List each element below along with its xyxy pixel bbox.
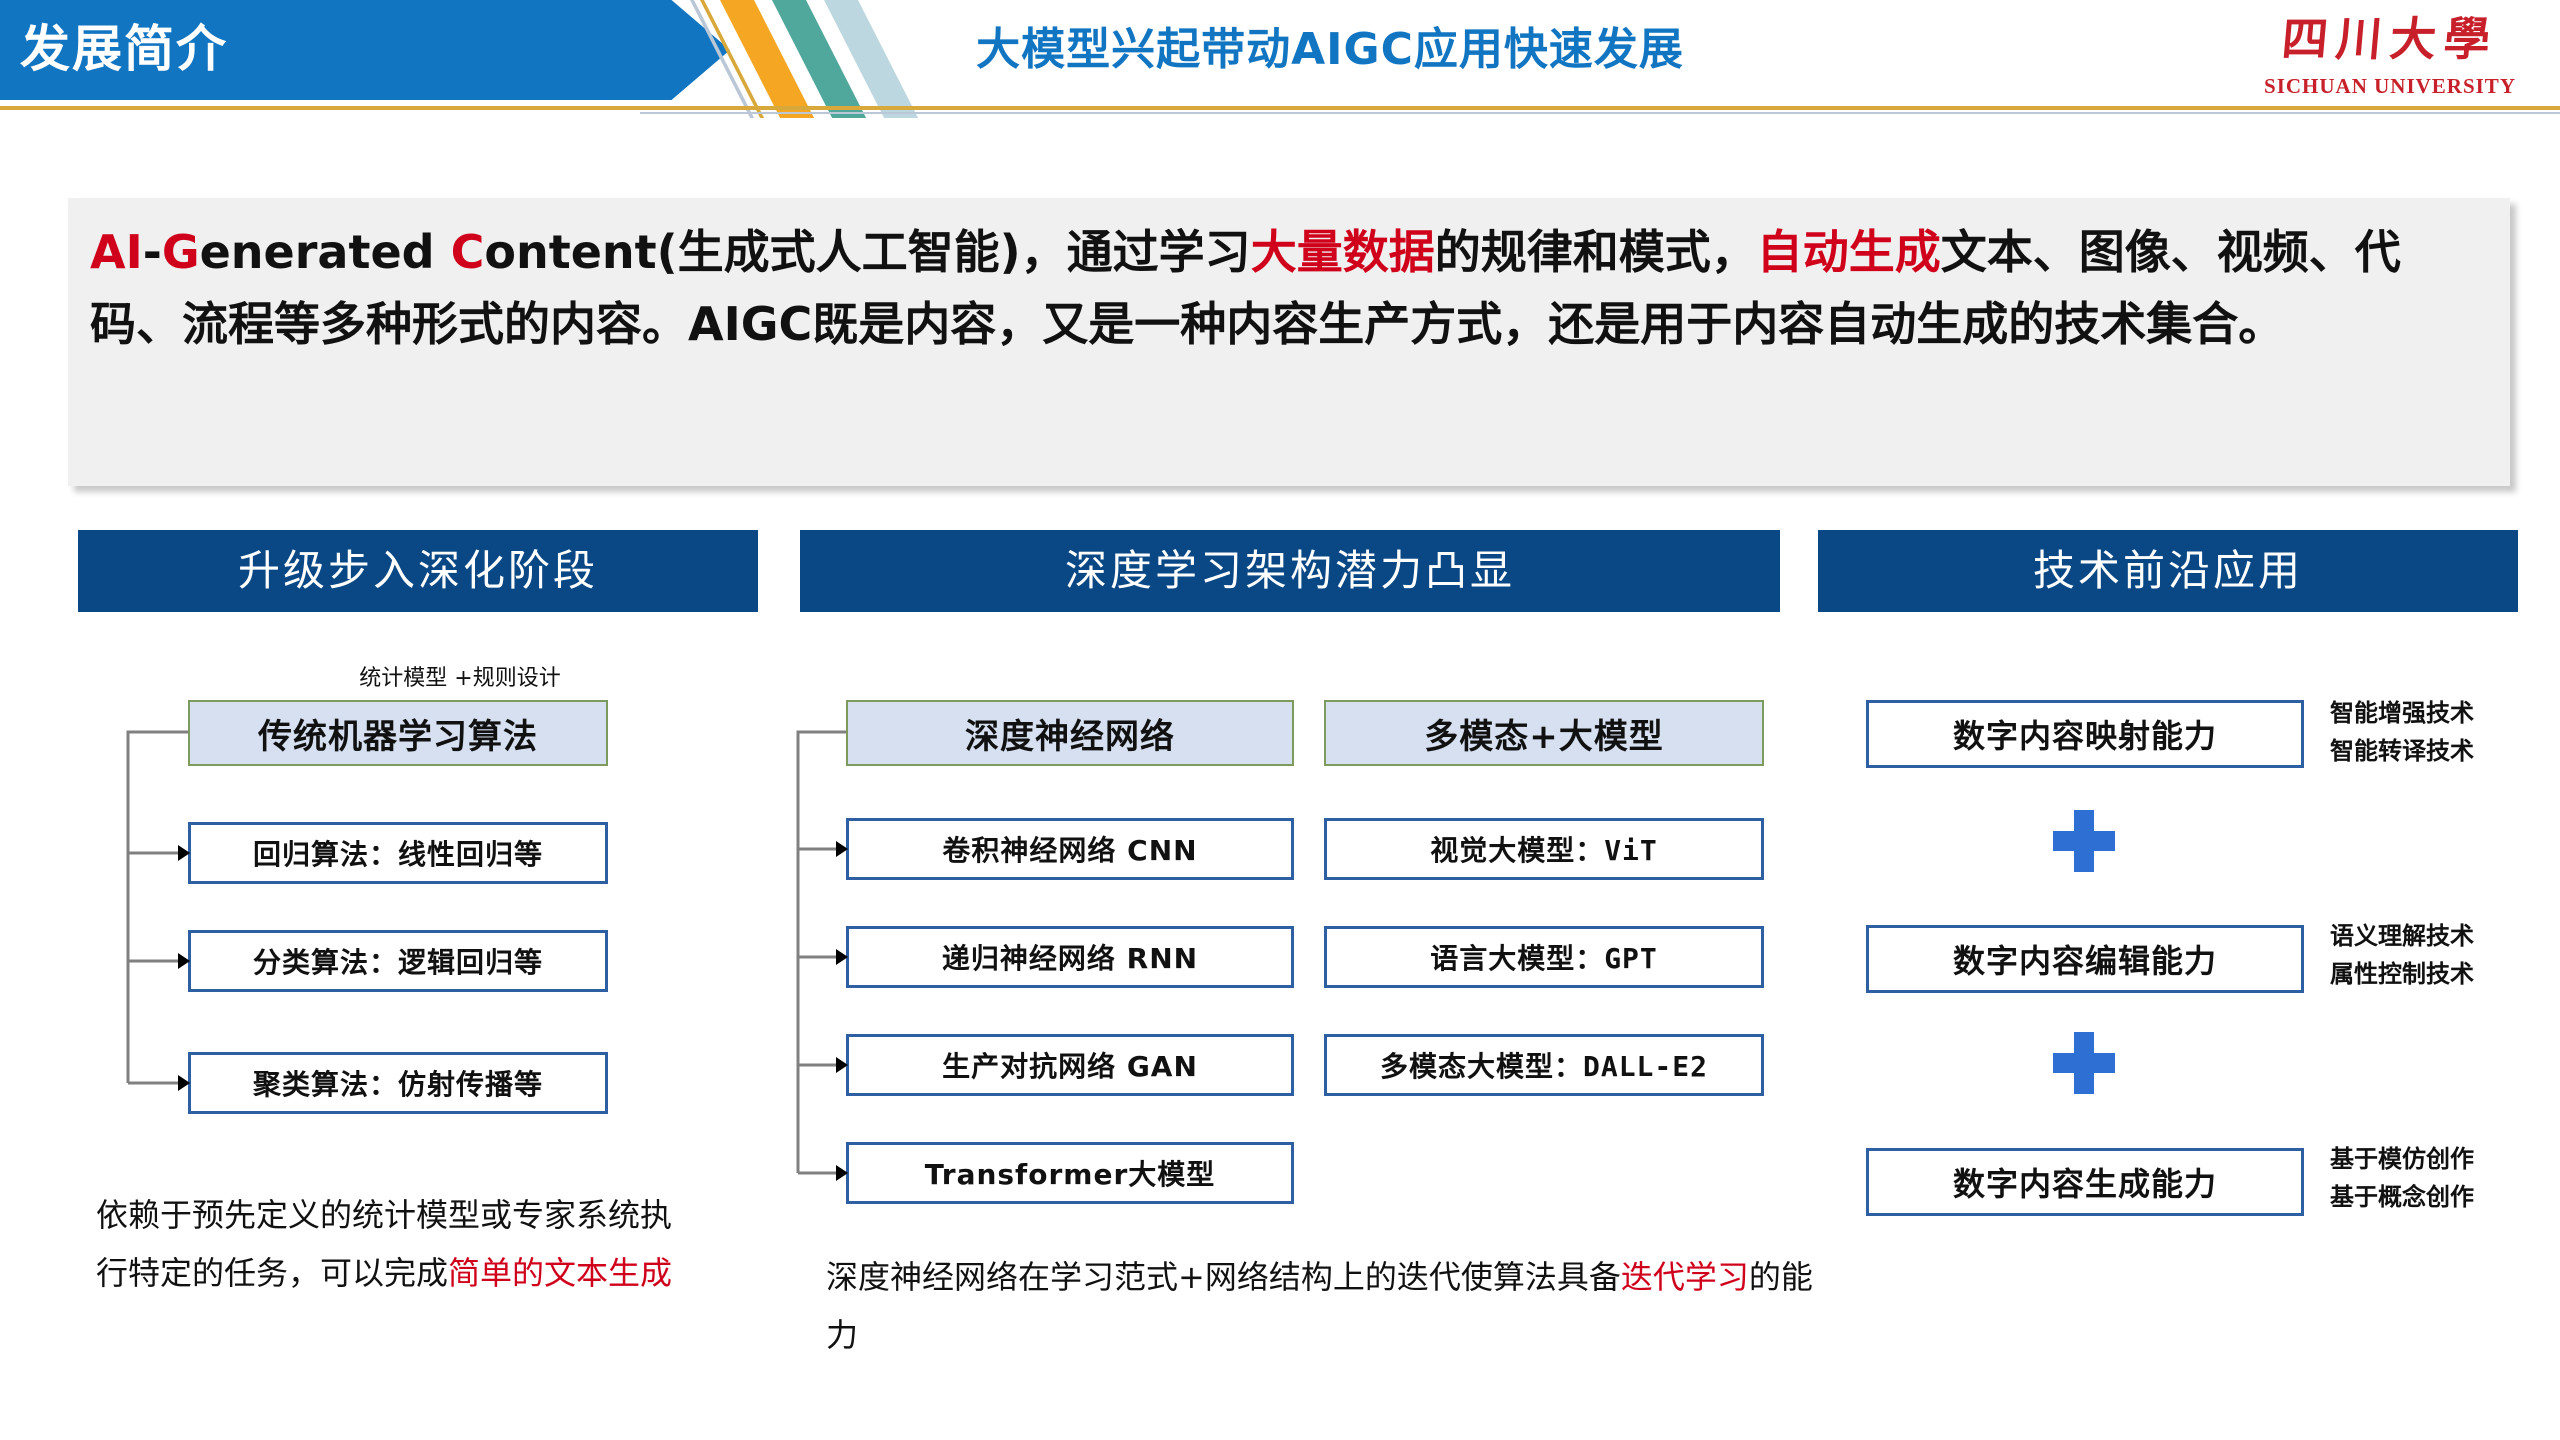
highlight-text: 简单的文本生成 bbox=[448, 1254, 672, 1292]
sichuan-university-logo: 四川大學 SICHUAN UNIVERSITY bbox=[2240, 6, 2540, 110]
col1-connector-lines bbox=[120, 690, 220, 1130]
highlight-text: 迭代学习 bbox=[1621, 1258, 1749, 1296]
col2-right-child-node-1[interactable]: 视觉大模型：ViT bbox=[1324, 818, 1764, 880]
col2-left-child-node-2[interactable]: 递归神经网络 RNN bbox=[846, 926, 1294, 988]
plain-text: ontent(生成式人工智能)，通过学习 bbox=[484, 225, 1250, 279]
col3-tag-1a: 智能增强技术 bbox=[2330, 694, 2474, 732]
col2-connector-lines bbox=[790, 690, 890, 1220]
col1-parent-node[interactable]: 传统机器学习算法 bbox=[188, 700, 608, 766]
column-1-caption: 依赖于预先定义的统计模型或专家系统执行特定的任务，可以完成简单的文本生成 bbox=[96, 1186, 696, 1302]
section-label: 发展简介 bbox=[20, 14, 580, 84]
col3-tag-3a: 基于模仿创作 bbox=[2330, 1140, 2474, 1178]
col2-left-child-node-4[interactable]: Transformer大模型 bbox=[846, 1142, 1294, 1204]
page-title: 大模型兴起带动AIGC应用快速发展 bbox=[900, 10, 1760, 90]
col3-tag-2a: 语义理解技术 bbox=[2330, 917, 2474, 955]
col1-child-node-2[interactable]: 分类算法：逻辑回归等 bbox=[188, 930, 608, 992]
col3-tag-3b: 基于概念创作 bbox=[2330, 1178, 2474, 1216]
col2-right-child-node-2[interactable]: 语言大模型：GPT bbox=[1324, 926, 1764, 988]
plain-text: 的规律和模式， bbox=[1435, 225, 1757, 279]
plus-icon-1 bbox=[2053, 810, 2115, 872]
header-gray-divider bbox=[640, 112, 2560, 114]
col3-capability-node-1[interactable]: 数字内容映射能力 bbox=[1866, 700, 2304, 768]
col3-capability-tags-2: 语义理解技术 属性控制技术 bbox=[2330, 917, 2474, 993]
logo-english-name: SICHUAN UNIVERSITY bbox=[2240, 72, 2540, 100]
column-3-header: 技术前沿应用 bbox=[1818, 530, 2518, 612]
page-header: 发展简介 大模型兴起带动AIGC应用快速发展 四川大學 SICHUAN UNIV… bbox=[0, 0, 2560, 118]
col2-parent-right-node[interactable]: 多模态+大模型 bbox=[1324, 700, 1764, 766]
col2-left-child-node-3[interactable]: 生产对抗网络 GAN bbox=[846, 1034, 1294, 1096]
col3-capability-tags-3: 基于模仿创作 基于概念创作 bbox=[2330, 1140, 2474, 1216]
col2-right-child-node-3[interactable]: 多模态大模型：DALL-E2 bbox=[1324, 1034, 1764, 1096]
col1-child-node-1[interactable]: 回归算法：线性回归等 bbox=[188, 822, 608, 884]
col3-tag-1b: 智能转译技术 bbox=[2330, 732, 2474, 770]
column-2-caption: 深度神经网络在学习范式+网络结构上的迭代使算法具备迭代学习的能力 bbox=[826, 1248, 1826, 1364]
plain-text: 深度神经网络在学习范式+网络结构上的迭代使算法具备 bbox=[826, 1258, 1621, 1296]
highlight-text: 大量数据 bbox=[1251, 225, 1435, 279]
col3-capability-tags-1: 智能增强技术 智能转译技术 bbox=[2330, 694, 2474, 770]
definition-panel: AI-Generated Content(生成式人工智能)，通过学习大量数据的规… bbox=[68, 198, 2510, 486]
highlight-text: C bbox=[451, 225, 485, 279]
highlight-text: AI bbox=[90, 225, 143, 279]
col3-tag-2b: 属性控制技术 bbox=[2330, 955, 2474, 993]
plain-text: enerated bbox=[200, 225, 451, 279]
col3-capability-node-3[interactable]: 数字内容生成能力 bbox=[1866, 1148, 2304, 1216]
col2-parent-left-node[interactable]: 深度神经网络 bbox=[846, 700, 1294, 766]
column-1-note: 统计模型 +规则设计 bbox=[260, 660, 660, 692]
col1-child-node-3[interactable]: 聚类算法：仿射传播等 bbox=[188, 1052, 608, 1114]
definition-text: AI-Generated Content(生成式人工智能)，通过学习大量数据的规… bbox=[90, 216, 2490, 360]
header-gold-divider bbox=[0, 106, 2560, 110]
plain-text: - bbox=[143, 225, 162, 279]
col2-left-child-node-1[interactable]: 卷积神经网络 CNN bbox=[846, 818, 1294, 880]
column-1-header: 升级步入深化阶段 bbox=[78, 530, 758, 612]
col3-capability-node-2[interactable]: 数字内容编辑能力 bbox=[1866, 925, 2304, 993]
highlight-text: G bbox=[162, 225, 200, 279]
plus-icon-2 bbox=[2053, 1032, 2115, 1094]
logo-chinese-name: 四川大學 bbox=[2237, 6, 2543, 72]
column-2-header: 深度学习架构潜力凸显 bbox=[800, 530, 1780, 612]
highlight-text: 自动生成 bbox=[1757, 225, 1941, 279]
